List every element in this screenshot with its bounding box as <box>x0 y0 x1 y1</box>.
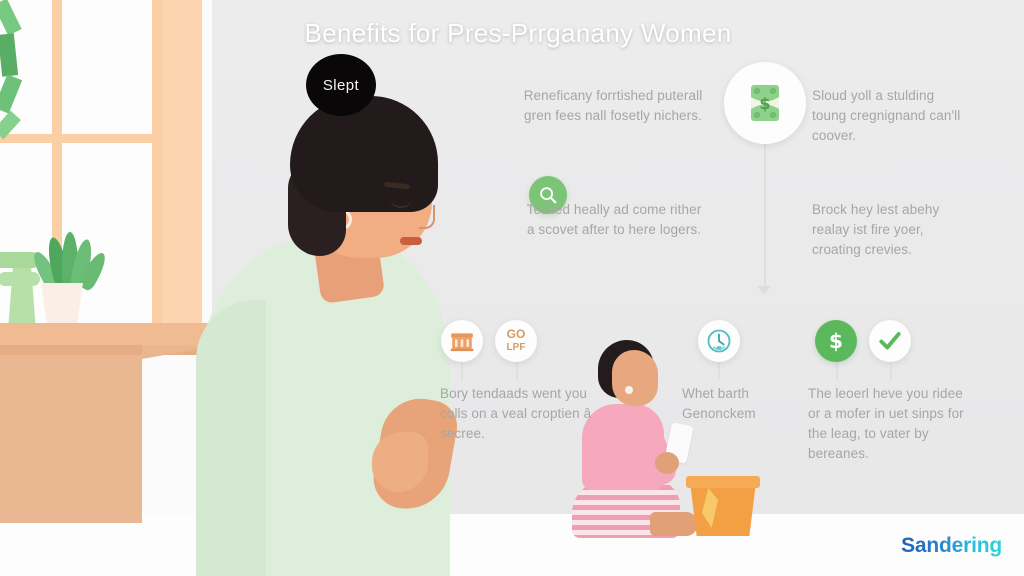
bank-building-icon[interactable] <box>441 320 483 362</box>
check-icon[interactable] <box>869 320 911 362</box>
window-frame-right <box>152 0 162 330</box>
pregnant-woman-lips <box>400 237 422 245</box>
orange-planter-rim <box>686 476 760 488</box>
slept-badge-label: Slept <box>323 77 359 94</box>
slept-badge: Slept <box>306 54 376 116</box>
callout-5-text: Bory tendaads went you colls on a veal c… <box>440 384 608 444</box>
callout-1-text: Reneficany forrtished puterall gren fees… <box>522 86 704 126</box>
callout-3-text: Sloud yoll a stulding toung cregnignand … <box>812 86 972 146</box>
kneeling-woman-face <box>612 350 658 406</box>
pale-plant-leaf-lower <box>0 272 40 286</box>
window-mullion-horizontal <box>0 134 155 143</box>
pregnant-woman-hair <box>290 96 438 212</box>
callout-7-text: The leoerl heve you ridee or a mofer in … <box>808 384 972 464</box>
kneeling-woman-leg <box>650 512 698 536</box>
connector-arrow-icon <box>757 286 771 295</box>
go-lpf-line1: GO <box>507 328 526 341</box>
go-lpf-line2: LPF <box>507 341 526 354</box>
banknote-icon[interactable]: $ <box>724 62 806 144</box>
dollar-glyph: $ <box>829 329 843 353</box>
callout-4-text: Brock hey lest abehy realay ist fire yoe… <box>812 200 972 260</box>
connector-stem <box>718 360 720 380</box>
connector-stem <box>461 360 463 380</box>
go-lpf-badge[interactable]: GO LPF <box>495 320 537 362</box>
callout-2-text: Tesked heally ad come rither a scovet af… <box>524 200 704 240</box>
orange-planter <box>690 482 756 536</box>
dollar-circle-icon[interactable]: $ <box>815 320 857 362</box>
connector-stem <box>836 360 838 380</box>
svg-text:$: $ <box>759 94 770 113</box>
callout-6-text: Whet barth Genonckem <box>682 384 800 424</box>
counter-top <box>0 323 220 345</box>
connector-stem <box>890 360 892 380</box>
pregnant-woman-nose <box>419 205 435 229</box>
connector-line <box>764 142 766 290</box>
kneeling-woman-earring <box>625 386 633 394</box>
counter-body <box>0 355 142 523</box>
clock-icon[interactable] <box>698 320 740 362</box>
plant-pot <box>41 283 83 325</box>
brand-logo[interactable]: Sandering <box>901 534 1002 558</box>
wall-warm-strip <box>162 0 202 330</box>
connector-stem <box>516 360 518 380</box>
background-floor <box>0 514 1024 576</box>
page-title: Benefits for Pres-Prrganany Women <box>288 16 748 50</box>
kneeling-woman-hand <box>655 452 679 474</box>
pregnant-woman-dress-shadow <box>196 300 266 576</box>
infographic-canvas: Slept Benefits for Pres-Prrganany Women <box>0 0 1024 576</box>
